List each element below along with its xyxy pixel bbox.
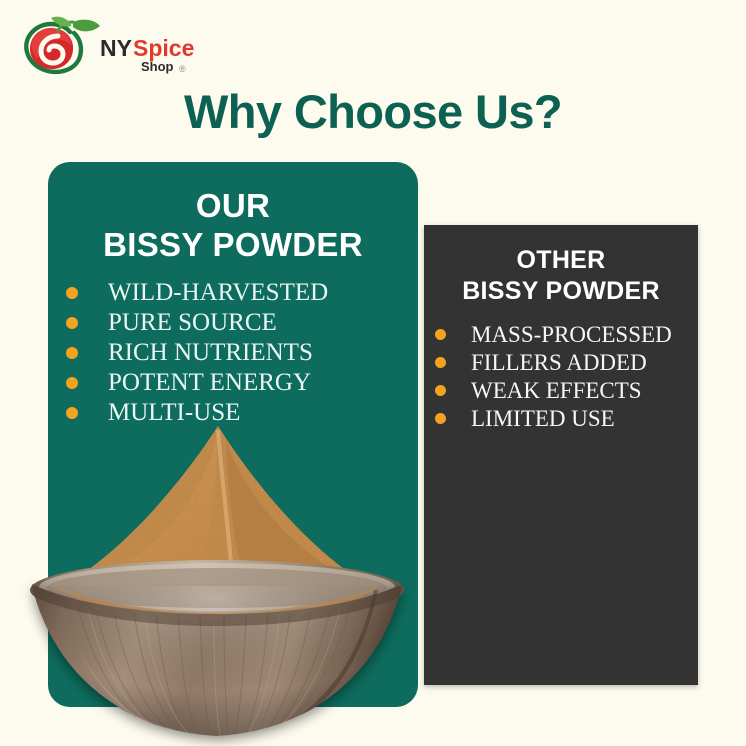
our-card-bullet-list: WILD-HARVESTED PURE SOURCE RICH NUTRIENT… [48,278,418,428]
list-item-label: MULTI-USE [108,398,240,428]
bullet-dot-icon [435,385,446,396]
list-item: WILD-HARVESTED [66,278,418,308]
list-item-label: POTENT ENERGY [108,368,311,398]
logo-leaf-right [73,20,100,32]
list-item: RICH NUTRIENTS [66,338,418,368]
logo-registered-mark: ® [179,64,186,74]
list-item-label: WILD-HARVESTED [108,278,328,308]
list-item-label: MASS-PROCESSED [471,321,672,349]
bullet-dot-icon [66,407,78,419]
logo-word-ny: NY [100,35,132,61]
brand-logo: NY Spice Shop ® [18,16,208,78]
logo-word-shop: Shop [141,59,174,74]
list-item-label: LIMITED USE [471,405,615,433]
our-card-heading-line1: OUR [66,186,400,225]
bullet-dot-icon [66,317,78,329]
list-item: FILLERS ADDED [435,349,698,377]
bullet-dot-icon [66,347,78,359]
list-item-label: FILLERS ADDED [471,349,647,377]
ny-spice-shop-pepper-leaf-logo: NY Spice Shop ® [18,16,208,78]
list-item: MULTI-USE [66,398,418,428]
bullet-dot-icon [66,287,78,299]
other-card-heading-line2: BISSY POWDER [436,276,686,307]
other-card-heading: OTHER BISSY POWDER [436,245,686,307]
other-card-bullet-list: MASS-PROCESSED FILLERS ADDED WEAK EFFECT… [424,321,698,433]
list-item: PURE SOURCE [66,308,418,338]
logo-word-spice: Spice [133,35,194,61]
list-item: LIMITED USE [435,405,698,433]
list-item-label: PURE SOURCE [108,308,277,338]
our-card-heading: OUR BISSY POWDER [66,186,400,264]
list-item: MASS-PROCESSED [435,321,698,349]
other-card-heading-line1: OTHER [436,245,686,276]
bullet-dot-icon [435,413,446,424]
list-item-label: WEAK EFFECTS [471,377,642,405]
list-item-label: RICH NUTRIENTS [108,338,313,368]
other-product-card: OTHER BISSY POWDER MASS-PROCESSED FILLER… [424,225,698,685]
list-item: POTENT ENERGY [66,368,418,398]
page-title: Why Choose Us? [0,84,746,140]
our-product-card: OUR BISSY POWDER WILD-HARVESTED PURE SOU… [48,162,418,707]
bullet-dot-icon [435,357,446,368]
our-card-heading-line2: BISSY POWDER [66,225,400,264]
list-item: WEAK EFFECTS [435,377,698,405]
bullet-dot-icon [66,377,78,389]
promo-graphic: NY Spice Shop ® Why Choose Us? OTHER BIS… [0,0,746,746]
bullet-dot-icon [435,329,446,340]
